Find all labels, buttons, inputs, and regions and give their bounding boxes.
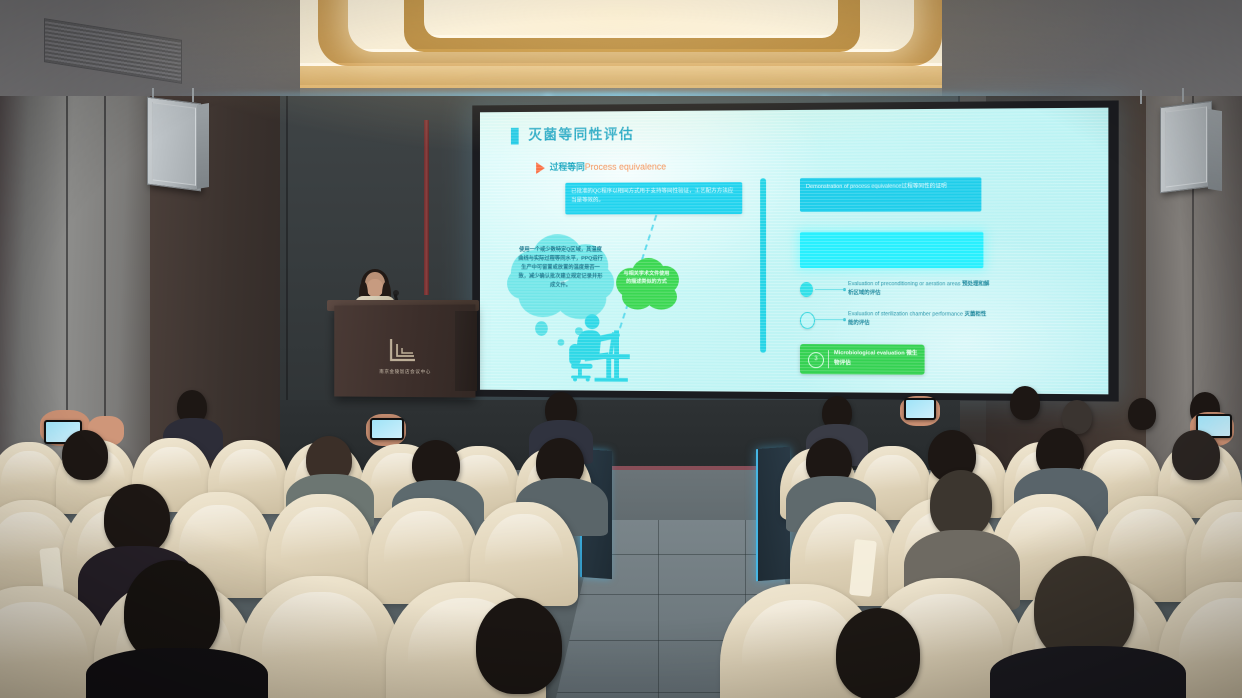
bullet-dot-outline-icon xyxy=(800,312,815,329)
thought-bubble-small xyxy=(558,339,565,346)
triangle-bullet-icon xyxy=(536,162,545,174)
speaker-grille xyxy=(152,102,196,185)
speaker-bracket xyxy=(1140,90,1142,104)
audience-head xyxy=(62,430,108,480)
slide-right-heading-box: Demonstration of process equivalence过程等同… xyxy=(800,177,981,212)
speaker-side-right xyxy=(1208,109,1222,191)
speaker-side-left xyxy=(197,103,209,189)
thought-cloud-green: 与相关学术文件使用的描述类似的方式 xyxy=(614,258,679,312)
curtain-pole xyxy=(424,120,429,295)
slide-green-badge: 3 Microbiological evaluation 微生物评估 xyxy=(800,344,925,375)
slide-bullet-2: Evaluation of sterilization chamber perf… xyxy=(800,310,992,339)
hotel-logo-icon xyxy=(388,337,418,363)
bullet-2-en: Evaluation of sterilization chamber perf… xyxy=(848,311,963,317)
presenter-face xyxy=(367,279,383,297)
green-badge-number: 3 xyxy=(808,352,824,368)
podium-caption: 南京金陵饭店会议中心 xyxy=(360,369,452,375)
person-at-desk-illustration xyxy=(569,314,653,382)
audience-head-front xyxy=(836,608,920,698)
audience-head xyxy=(1172,430,1220,480)
slide-title-accent-bar xyxy=(511,128,519,145)
bullet-dot-icon xyxy=(800,282,813,297)
projection-screen: 灭菌等同性评估 过程等同Process equivalence 已批准的QC程序… xyxy=(480,108,1108,395)
speaker-grille xyxy=(1165,106,1207,187)
thought-bubble-small xyxy=(535,321,548,336)
audience-head xyxy=(1128,398,1156,430)
wall-speaker-right xyxy=(1160,101,1212,193)
audience-phone[interactable] xyxy=(904,398,936,420)
audience-head xyxy=(1010,386,1040,420)
phone-screen xyxy=(906,400,934,418)
bullet-leader-line xyxy=(815,319,843,320)
podium-side xyxy=(455,311,477,391)
slide-right-heading-text: Demonstration of process equivalence过程等同… xyxy=(800,177,981,197)
slide-vertical-divider xyxy=(760,178,766,353)
audience-head-front xyxy=(476,598,562,694)
slide-right-highlight-box xyxy=(800,232,983,268)
bullet-leader-line xyxy=(815,289,843,290)
audience-shoulders-front xyxy=(86,648,268,698)
slide-bullet-1: Evaluation of preconditioning or aeratio… xyxy=(800,280,992,309)
slide-subtitle: 过程等同Process equivalence xyxy=(550,160,667,173)
thought-cloud-text: 使用一个或少数特定Q区域，其温度曲线与实际过程等同水平，PPQ运行生产中可留置或… xyxy=(517,246,605,290)
audience-head-grey xyxy=(930,470,992,538)
green-badge-divider xyxy=(828,350,829,368)
ceiling-cove-inner xyxy=(424,0,838,38)
speaker-bracket xyxy=(1182,88,1184,102)
thought-cloud-green-text: 与相关学术文件使用的描述类似的方式 xyxy=(622,270,671,287)
phone-screen xyxy=(372,420,402,438)
thought-cloud-cyan: 使用一个或少数特定Q区域，其温度曲线与实际过程等同水平，PPQ运行生产中可留置或… xyxy=(507,232,614,323)
bullet-1-en: Evaluation of preconditioning or aeratio… xyxy=(848,281,961,287)
audience-phone[interactable] xyxy=(370,418,404,440)
audience-head xyxy=(104,484,170,554)
conference-hall-scene: 灭菌等同性评估 过程等同Process equivalence 已批准的QC程序… xyxy=(0,0,1242,698)
slide-title: 灭菌等同性评估 xyxy=(528,124,634,144)
speaker-bracket xyxy=(192,88,194,102)
projection-screen-frame: 灭菌等同性评估 过程等同Process equivalence 已批准的QC程序… xyxy=(472,100,1118,401)
ceiling xyxy=(0,0,1242,108)
audience-shoulders-front xyxy=(990,646,1186,698)
slide-top-callout-text: 已批准的QC程序以相同方式用于支持等同性验证，工艺配方方法应当是等效的。 xyxy=(565,182,742,210)
slide-subtitle-cn: 过程等同 xyxy=(550,162,585,172)
slide-subtitle-en: Process equivalence xyxy=(585,162,666,172)
green-badge-en: Microbiological evaluation xyxy=(834,350,905,356)
slide-top-callout-box: 已批准的QC程序以相同方式用于支持等同性验证，工艺配方方法应当是等效的。 xyxy=(565,182,742,214)
wall-speaker-left xyxy=(147,97,201,192)
